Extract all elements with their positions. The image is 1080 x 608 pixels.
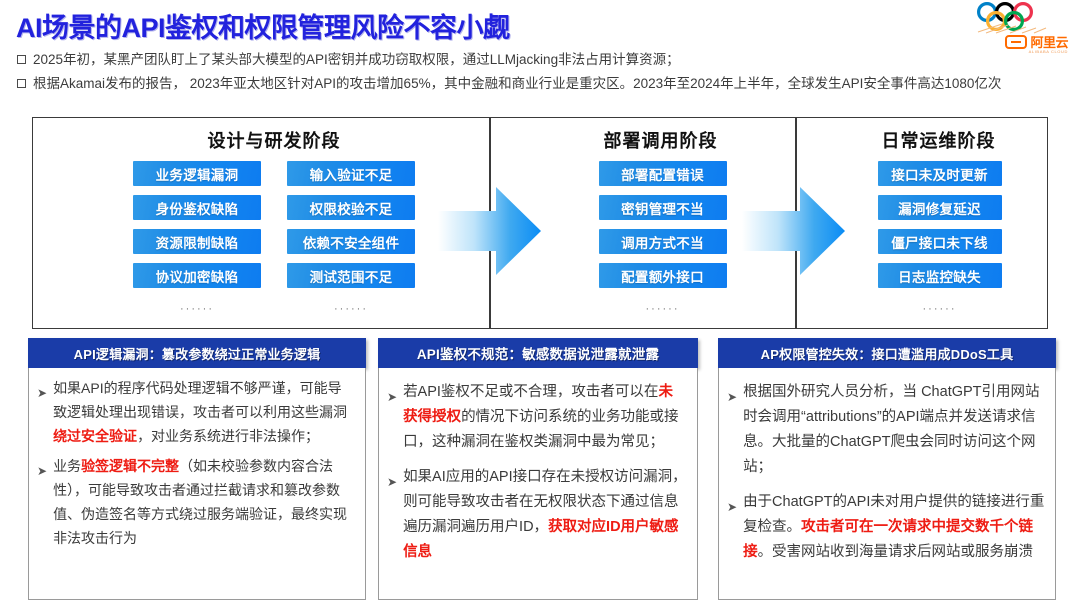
risk-tag[interactable]: 配置额外接口 <box>599 263 727 288</box>
risk-tag[interactable]: 部署配置错误 <box>599 161 727 186</box>
risk-tag[interactable]: 协议加密缺陷 <box>133 263 261 288</box>
card-paragraph: ➤ 如果API的程序代码处理逻辑不够严谨，可能导致逻辑处理出现错误，攻击者可以利… <box>37 376 355 448</box>
stage-title: 部署调用阶段 <box>526 127 795 153</box>
logo-area: 阿里云 ALIBABA CLOUD <box>952 2 1072 56</box>
chevron-right-icon: ➤ <box>727 385 737 410</box>
risk-tag[interactable]: 依赖不安全组件 <box>287 229 415 254</box>
card-body: ➤ 如果API的程序代码处理逻辑不够严谨，可能导致逻辑处理出现错误，攻击者可以利… <box>28 368 366 600</box>
risk-tag[interactable]: 权限校验不足 <box>287 195 415 220</box>
stage-design-dev: 设计与研发阶段 业务逻辑漏洞 身份鉴权缺陷 资源限制缺陷 协议加密缺陷 ····… <box>33 118 489 328</box>
risk-tag[interactable]: 资源限制缺陷 <box>133 229 261 254</box>
ellipsis-dots: ······ <box>133 303 261 315</box>
risk-tag[interactable]: 调用方式不当 <box>599 229 727 254</box>
tag-column: 业务逻辑漏洞 身份鉴权缺陷 资源限制缺陷 协议加密缺陷 ······ <box>133 161 261 315</box>
chevron-right-icon: ➤ <box>37 381 47 405</box>
risk-tag[interactable]: 漏洞修复延迟 <box>878 195 1002 220</box>
card-body: ➤ 若API鉴权不足或不合理，攻击者可以在未获得授权的情况下访问系统的业务功能或… <box>378 368 698 600</box>
paragraph-text: 根据国外研究人员分析，当 ChatGPT引用网站时会调用“attribution… <box>743 380 1045 480</box>
stage-columns: 业务逻辑漏洞 身份鉴权缺陷 资源限制缺陷 协议加密缺陷 ······ 输入验证不… <box>59 161 489 315</box>
detail-card-api-logic: API逻辑漏洞：篡改参数绕过正常业务逻辑 ➤ 如果API的程序代码处理逻辑不够严… <box>28 338 366 600</box>
detail-card-api-ddos: AP权限管控失效：接口遭滥用成DDoS工具 ➤ 根据国外研究人员分析，当 Cha… <box>718 338 1056 600</box>
risk-tag[interactable]: 测试范围不足 <box>287 263 415 288</box>
plain-text: 业务 <box>53 458 81 474</box>
plain-text: 如果API的程序代码处理逻辑不够严谨，可能导致逻辑处理出现错误，攻击者可以利用这… <box>53 380 347 420</box>
header-bullet-item: 根据Akamai发布的报告， 2023年亚太地区针对API的攻击增加65%，其中… <box>17 74 1067 94</box>
chevron-right-icon: ➤ <box>727 495 737 520</box>
stage-title: 设计与研发阶段 <box>59 127 489 153</box>
stage-columns: 接口未及时更新 漏洞修复延迟 僵尸接口未下线 日志监控缺失 ······ <box>830 161 1049 315</box>
header-bullet-text: 2025年初，某黑产团队盯上了某头部大模型的API密钥并成功窃取权限，通过LLM… <box>33 50 680 70</box>
paragraph-text: 如果API的程序代码处理逻辑不够严谨，可能导致逻辑处理出现错误，攻击者可以利用这… <box>53 376 355 448</box>
risk-tag[interactable]: 日志监控缺失 <box>878 263 1002 288</box>
card-header: AP权限管控失效：接口遭滥用成DDoS工具 <box>718 338 1056 368</box>
paragraph-text: 由于ChatGPT的API未对用户提供的链接进行重复检查。攻击者可在一次请求中提… <box>743 490 1045 565</box>
stage-arrow-2-icon <box>742 185 846 277</box>
highlighted-text: 绕过安全验证 <box>53 428 137 444</box>
page-title: AI场景的API鉴权和权限管理风险不容小觑 <box>16 6 510 45</box>
header-bullet-list: 2025年初，某黑产团队盯上了某头部大模型的API密钥并成功窃取权限，通过LLM… <box>17 50 1067 98</box>
ellipsis-dots: ······ <box>287 303 415 315</box>
risk-tag[interactable]: 密钥管理不当 <box>599 195 727 220</box>
stage-arrow-1-icon <box>438 185 542 277</box>
risk-tag[interactable]: 僵尸接口未下线 <box>878 229 1002 254</box>
risk-tag[interactable]: 接口未及时更新 <box>878 161 1002 186</box>
card-paragraph: ➤ 如果AI应用的API接口存在未授权访问漏洞，则可能导致攻击者在无权限状态下通… <box>387 465 687 565</box>
card-header: API鉴权不规范：敏感数据说泄露就泄露 <box>378 338 698 368</box>
card-body: ➤ 根据国外研究人员分析，当 ChatGPT引用网站时会调用“attributi… <box>718 368 1056 600</box>
card-paragraph: ➤ 由于ChatGPT的API未对用户提供的链接进行重复检查。攻击者可在一次请求… <box>727 490 1045 565</box>
slide-root: AI场景的API鉴权和权限管理风险不容小觑 阿里云 ALIBABA CLOUD <box>0 0 1080 608</box>
header-bullet-text: 根据Akamai发布的报告， 2023年亚太地区针对API的攻击增加65%，其中… <box>33 74 1001 94</box>
alibaba-cloud-mark-icon <box>1005 35 1027 49</box>
plain-text: 若API鉴权不足或不合理，攻击者可以在 <box>403 384 658 400</box>
chevron-right-icon: ➤ <box>387 385 397 410</box>
highlighted-text: 验签逻辑不完整 <box>81 458 179 474</box>
chevron-right-icon: ➤ <box>387 470 397 495</box>
tag-column: 接口未及时更新 漏洞修复延迟 僵尸接口未下线 日志监控缺失 ······ <box>878 161 1002 315</box>
square-bullet-icon <box>17 55 26 64</box>
tag-column: 部署配置错误 密钥管理不当 调用方式不当 配置额外接口 ······ <box>599 161 727 315</box>
risk-tag[interactable]: 输入验证不足 <box>287 161 415 186</box>
risk-tag[interactable]: 身份鉴权缺陷 <box>133 195 261 220</box>
square-bullet-icon <box>17 79 26 88</box>
paragraph-text: 若API鉴权不足或不合理，攻击者可以在未获得授权的情况下访问系统的业务功能或接口… <box>403 380 687 455</box>
ellipsis-dots: ······ <box>599 303 727 315</box>
paragraph-text: 业务验签逻辑不完整（如未校验参数内容合法性），可能导致攻击者通过拦截请求和篡改参… <box>53 454 355 550</box>
risk-tag[interactable]: 业务逻辑漏洞 <box>133 161 261 186</box>
card-paragraph: ➤ 业务验签逻辑不完整（如未校验参数内容合法性），可能导致攻击者通过拦截请求和篡… <box>37 454 355 550</box>
card-paragraph: ➤ 根据国外研究人员分析，当 ChatGPT引用网站时会调用“attributi… <box>727 380 1045 480</box>
chevron-right-icon: ➤ <box>37 459 47 483</box>
card-paragraph: ➤ 若API鉴权不足或不合理，攻击者可以在未获得授权的情况下访问系统的业务功能或… <box>387 380 687 455</box>
detail-card-api-auth: API鉴权不规范：敏感数据说泄露就泄露 ➤ 若API鉴权不足或不合理，攻击者可以… <box>378 338 698 600</box>
stage-title: 日常运维阶段 <box>828 127 1049 153</box>
tag-column: 输入验证不足 权限校验不足 依赖不安全组件 测试范围不足 ······ <box>287 161 415 315</box>
ellipsis-dots: ······ <box>878 303 1002 315</box>
card-header: API逻辑漏洞：篡改参数绕过正常业务逻辑 <box>28 338 366 368</box>
paragraph-text: 如果AI应用的API接口存在未授权访问漏洞，则可能导致攻击者在无权限状态下通过信… <box>403 465 687 565</box>
plain-text: 。受害网站收到海量请求后网站或服务崩溃 <box>758 544 1034 560</box>
header-bullet-item: 2025年初，某黑产团队盯上了某头部大模型的API密钥并成功窃取权限，通过LLM… <box>17 50 1067 70</box>
plain-text: ，对业务系统进行非法操作； <box>137 428 319 444</box>
plain-text: 根据国外研究人员分析，当 ChatGPT引用网站时会调用“attribution… <box>743 384 1039 475</box>
